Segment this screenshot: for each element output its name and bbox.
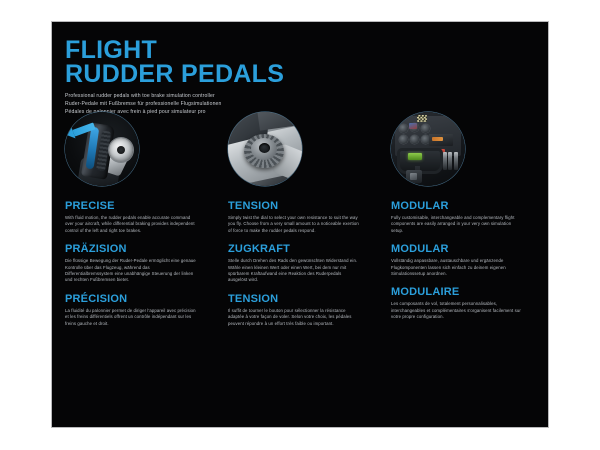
rudder-pedal-motion-photo [65,112,139,186]
feature-block: PRECISE With fluid motion, the rudder pe… [65,200,215,234]
tension-dial-photo [228,112,302,186]
feature-block: TENSION Simply twist the dial to select … [228,200,378,234]
feature-block: PRÉCISION La fluidité du palonnier perme… [65,293,215,327]
header: FLIGHT RUDDER PEDALS Professional rudder… [65,38,485,117]
feature-heading: PRÉCISION [65,293,215,305]
feature-heading: MODULAIRE [391,286,541,298]
feature-block: TENSION Il suffit de tourner le bouton p… [228,293,378,327]
feature-block: MODULAIRE Les composants de vol, totalem… [391,286,541,320]
feature-body: Les composants de vol, totalement person… [391,301,523,320]
feature-body: Simply twist the dial to select your own… [228,215,360,234]
subtitle-de: Ruder-Pedale mit Fußbremse für professio… [65,100,485,108]
feature-block: PRÄZISION Die flüssige Bewegung der Rude… [65,243,215,284]
page-title-line-2: RUDDER PEDALS [65,62,485,86]
feature-block: MODULAR Vollständig anpassbare, austausc… [391,243,541,277]
feature-body: Die flüssige Bewegung der Ruder-Pedale e… [65,258,197,284]
page-title-line-1: FLIGHT [65,38,485,62]
feature-heading: MODULAR [391,200,541,212]
feature-body: Il suffit de tourner le bouton pour séle… [228,308,360,327]
feature-block: ZUGKRAFT Stelle durch Drehen des Rads de… [228,243,378,284]
feature-heading: ZUGKRAFT [228,243,378,255]
subtitle-en: Professional rudder pedals with toe brak… [65,92,485,100]
feature-body: Stelle durch Drehen des Rads den gewünsc… [228,258,360,284]
feature-column-modular: MODULAR Fully customisable, interchangea… [391,112,541,327]
feature-column-precise: PRECISE With fluid motion, the rudder pe… [65,112,215,327]
feature-heading: TENSION [228,293,378,305]
feature-heading: PRÄZISION [65,243,215,255]
feature-heading: TENSION [228,200,378,212]
feature-body: Fully customisable, interchangeable and … [391,215,523,234]
feature-body: La fluidité du palonnier permet de dirig… [65,308,197,327]
product-info-panel: FLIGHT RUDDER PEDALS Professional rudder… [52,22,548,427]
feature-body: Vollständig anpassbare, austauschbare un… [391,258,523,277]
feature-block: MODULAR Fully customisable, interchangea… [391,200,541,234]
feature-heading: MODULAR [391,243,541,255]
flight-simulator-setup-photo [391,112,465,186]
feature-heading: PRECISE [65,200,215,212]
feature-body: With fluid motion, the rudder pedals ena… [65,215,197,234]
feature-columns: PRECISE With fluid motion, the rudder pe… [52,112,548,327]
feature-column-tension: TENSION Simply twist the dial to select … [228,112,378,327]
